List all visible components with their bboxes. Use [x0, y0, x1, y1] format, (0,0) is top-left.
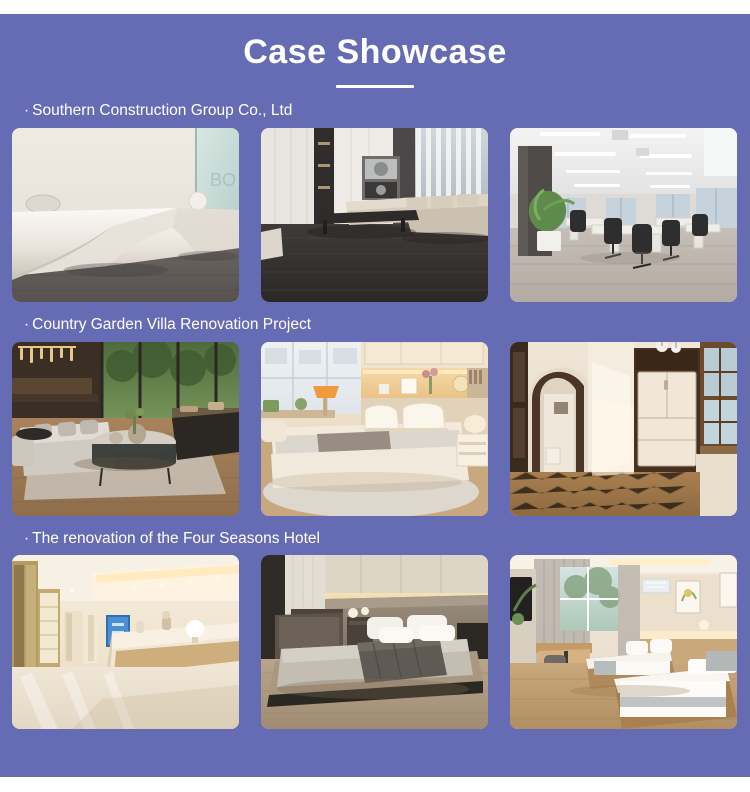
photo-open-plan-office[interactable]: [510, 128, 737, 302]
photo-hotel-lobby-reception[interactable]: [12, 555, 239, 729]
gallery-row-2: [0, 342, 750, 516]
svg-text:BO: BO: [210, 170, 236, 190]
photo-hotel-twin-room[interactable]: [510, 555, 737, 729]
photo-reception-desk-lobby[interactable]: BO: [12, 128, 239, 302]
section-title-1: ·Southern Construction Group Co., Ltd: [0, 102, 750, 121]
section-label-3: The renovation of the Four Seasons Hotel: [32, 530, 320, 547]
section-bullet-1: ·: [24, 102, 29, 119]
section-title-2: ·Country Garden Villa Renovation Project: [0, 316, 750, 335]
photo-arched-hallway-kitchen[interactable]: [510, 342, 737, 516]
photo-villa-living-room[interactable]: [12, 342, 239, 516]
gallery-row-3: [0, 555, 750, 729]
section-label-1: Southern Construction Group Co., Ltd: [32, 102, 292, 119]
photo-modern-living-room-dark-floor[interactable]: [261, 128, 488, 302]
section-title-3: ·The renovation of the Four Seasons Hote…: [0, 530, 750, 549]
section-bullet-2: ·: [24, 316, 29, 333]
gallery-row-1: BO: [0, 128, 750, 302]
page-title: Case Showcase: [0, 34, 750, 71]
case-section-2: ·Country Garden Villa Renovation Project: [0, 316, 750, 516]
purple-banner: Case Showcase ·Southern Construction Gro…: [0, 14, 750, 777]
section-label-2: Country Garden Villa Renovation Project: [32, 316, 311, 333]
section-bullet-3: ·: [24, 530, 29, 547]
page-header: Case Showcase: [0, 14, 750, 88]
case-section-3: ·The renovation of the Four Seasons Hote…: [0, 530, 750, 730]
title-underline: [336, 85, 414, 88]
photo-cream-bedroom[interactable]: [261, 342, 488, 516]
case-showcase-page: Case Showcase ·Southern Construction Gro…: [0, 0, 750, 792]
case-section-1: ·Southern Construction Group Co., Ltd: [0, 102, 750, 302]
photo-hotel-king-room[interactable]: [261, 555, 488, 729]
